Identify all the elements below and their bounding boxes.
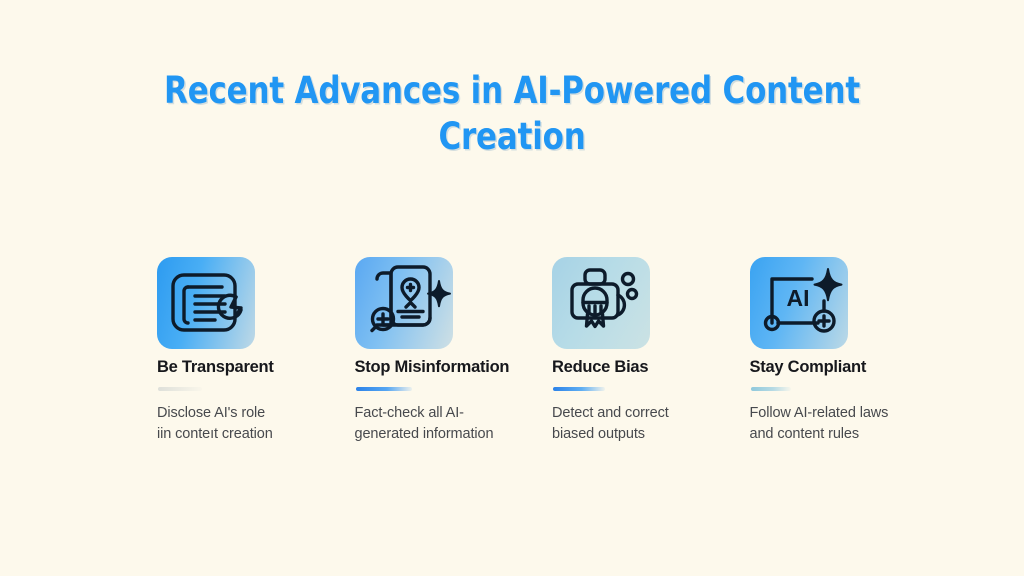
card-reduce-bias[interactable]: Reduce Bias Detect and correct biased ou… xyxy=(552,257,750,457)
ai-compliance-node-icon: AI xyxy=(750,257,848,349)
card-stop-misinformation[interactable]: Stop Misinformation Fact-check all AI- g… xyxy=(355,257,553,457)
card-row: Be Transparent Disclose AI's role iin co… xyxy=(157,257,947,457)
card-accent-bar xyxy=(751,387,791,391)
icon-tile-4: AI xyxy=(750,257,848,349)
card-body-text: Disclose AI's role iin conteıt creation xyxy=(157,403,273,445)
card-accent-bar xyxy=(553,387,605,391)
svg-text:AI: AI xyxy=(786,285,809,311)
card-body-text: Follow AI-related laws and content rules xyxy=(750,403,889,445)
card-accent-bar xyxy=(158,387,202,391)
fact-check-magnifier-document-icon xyxy=(355,257,453,349)
slide-canvas: Recent Advances in AI-Powered Content Cr… xyxy=(0,0,1024,576)
page-title: Recent Advances in AI-Powered Content Cr… xyxy=(132,68,892,160)
page-title-line-1: Recent Advances in AI-Powered Content xyxy=(159,68,866,114)
icon-tile-1 xyxy=(157,257,255,349)
icon-tile-2 xyxy=(355,257,453,349)
card-heading: Stop Misinformation xyxy=(355,358,510,377)
card-heading: Be Transparent xyxy=(157,358,274,377)
card-body-text: Detect and correct biased outputs xyxy=(552,403,669,445)
transparent-document-icon xyxy=(157,257,255,349)
balance-scale-bias-icon xyxy=(552,257,650,349)
card-stay-compliant[interactable]: AI Stay Compliant Follow AI-related laws… xyxy=(750,257,948,457)
icon-tile-3 xyxy=(552,257,650,349)
card-heading: Stay Compliant xyxy=(750,358,867,377)
card-be-transparent[interactable]: Be Transparent Disclose AI's role iin co… xyxy=(157,257,355,457)
card-accent-bar xyxy=(356,387,412,391)
card-heading: Reduce Bias xyxy=(552,358,648,377)
page-title-line-2: Creation xyxy=(159,114,866,160)
card-body-text: Fact-check all AI- generated information xyxy=(355,403,494,445)
